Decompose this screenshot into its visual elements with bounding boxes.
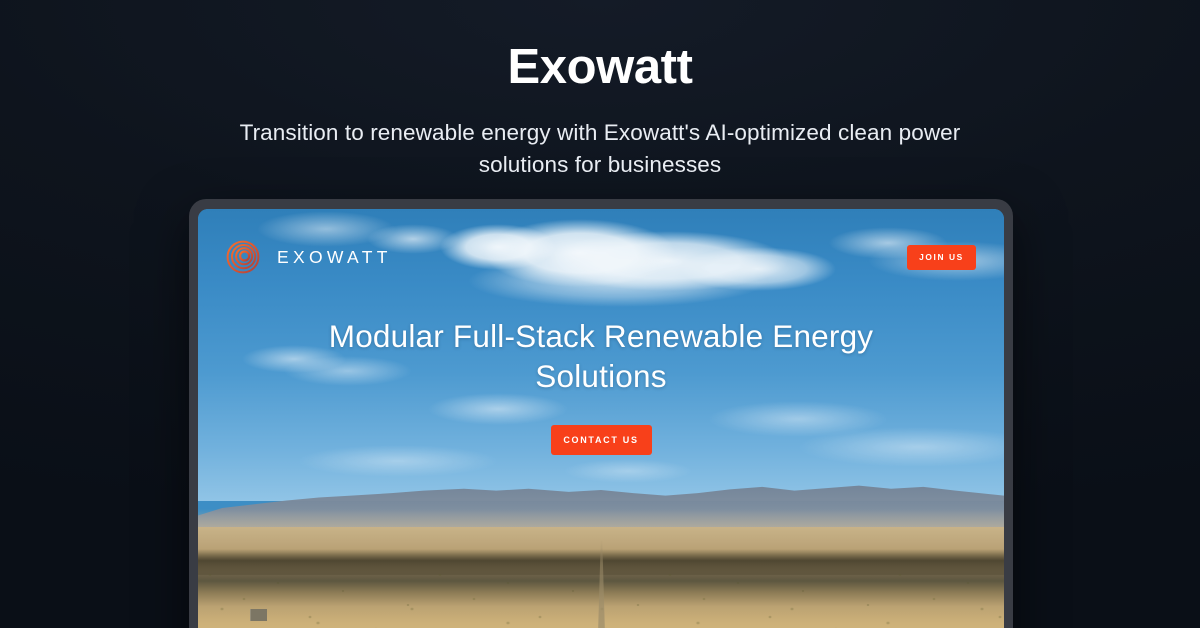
hero-cta-wrap: CONTACT US bbox=[271, 425, 931, 455]
website-navbar: EXOWATT JOIN US bbox=[198, 209, 1004, 305]
page-title: Exowatt bbox=[0, 40, 1200, 95]
landing-page-root: Exowatt Transition to renewable energy w… bbox=[0, 0, 1200, 628]
website-hero: Modular Full-Stack Renewable Energy Solu… bbox=[271, 316, 931, 455]
page-header: Exowatt Transition to renewable energy w… bbox=[0, 0, 1200, 181]
laptop-screen: EXOWATT JOIN US Modular Full-Stack Renew… bbox=[198, 209, 1004, 628]
join-us-button[interactable]: JOIN US bbox=[907, 245, 976, 270]
concentric-rings-logo-icon bbox=[226, 240, 260, 274]
small-structure bbox=[250, 609, 267, 621]
page-subtitle: Transition to renewable energy with Exow… bbox=[215, 117, 985, 181]
laptop-mockup: EXOWATT JOIN US Modular Full-Stack Renew… bbox=[189, 199, 1013, 628]
hero-headline: Modular Full-Stack Renewable Energy Solu… bbox=[271, 316, 931, 397]
brand-name-text: EXOWATT bbox=[277, 247, 392, 268]
brand-lockup[interactable]: EXOWATT bbox=[226, 240, 392, 274]
contact-us-button[interactable]: CONTACT US bbox=[551, 425, 652, 455]
